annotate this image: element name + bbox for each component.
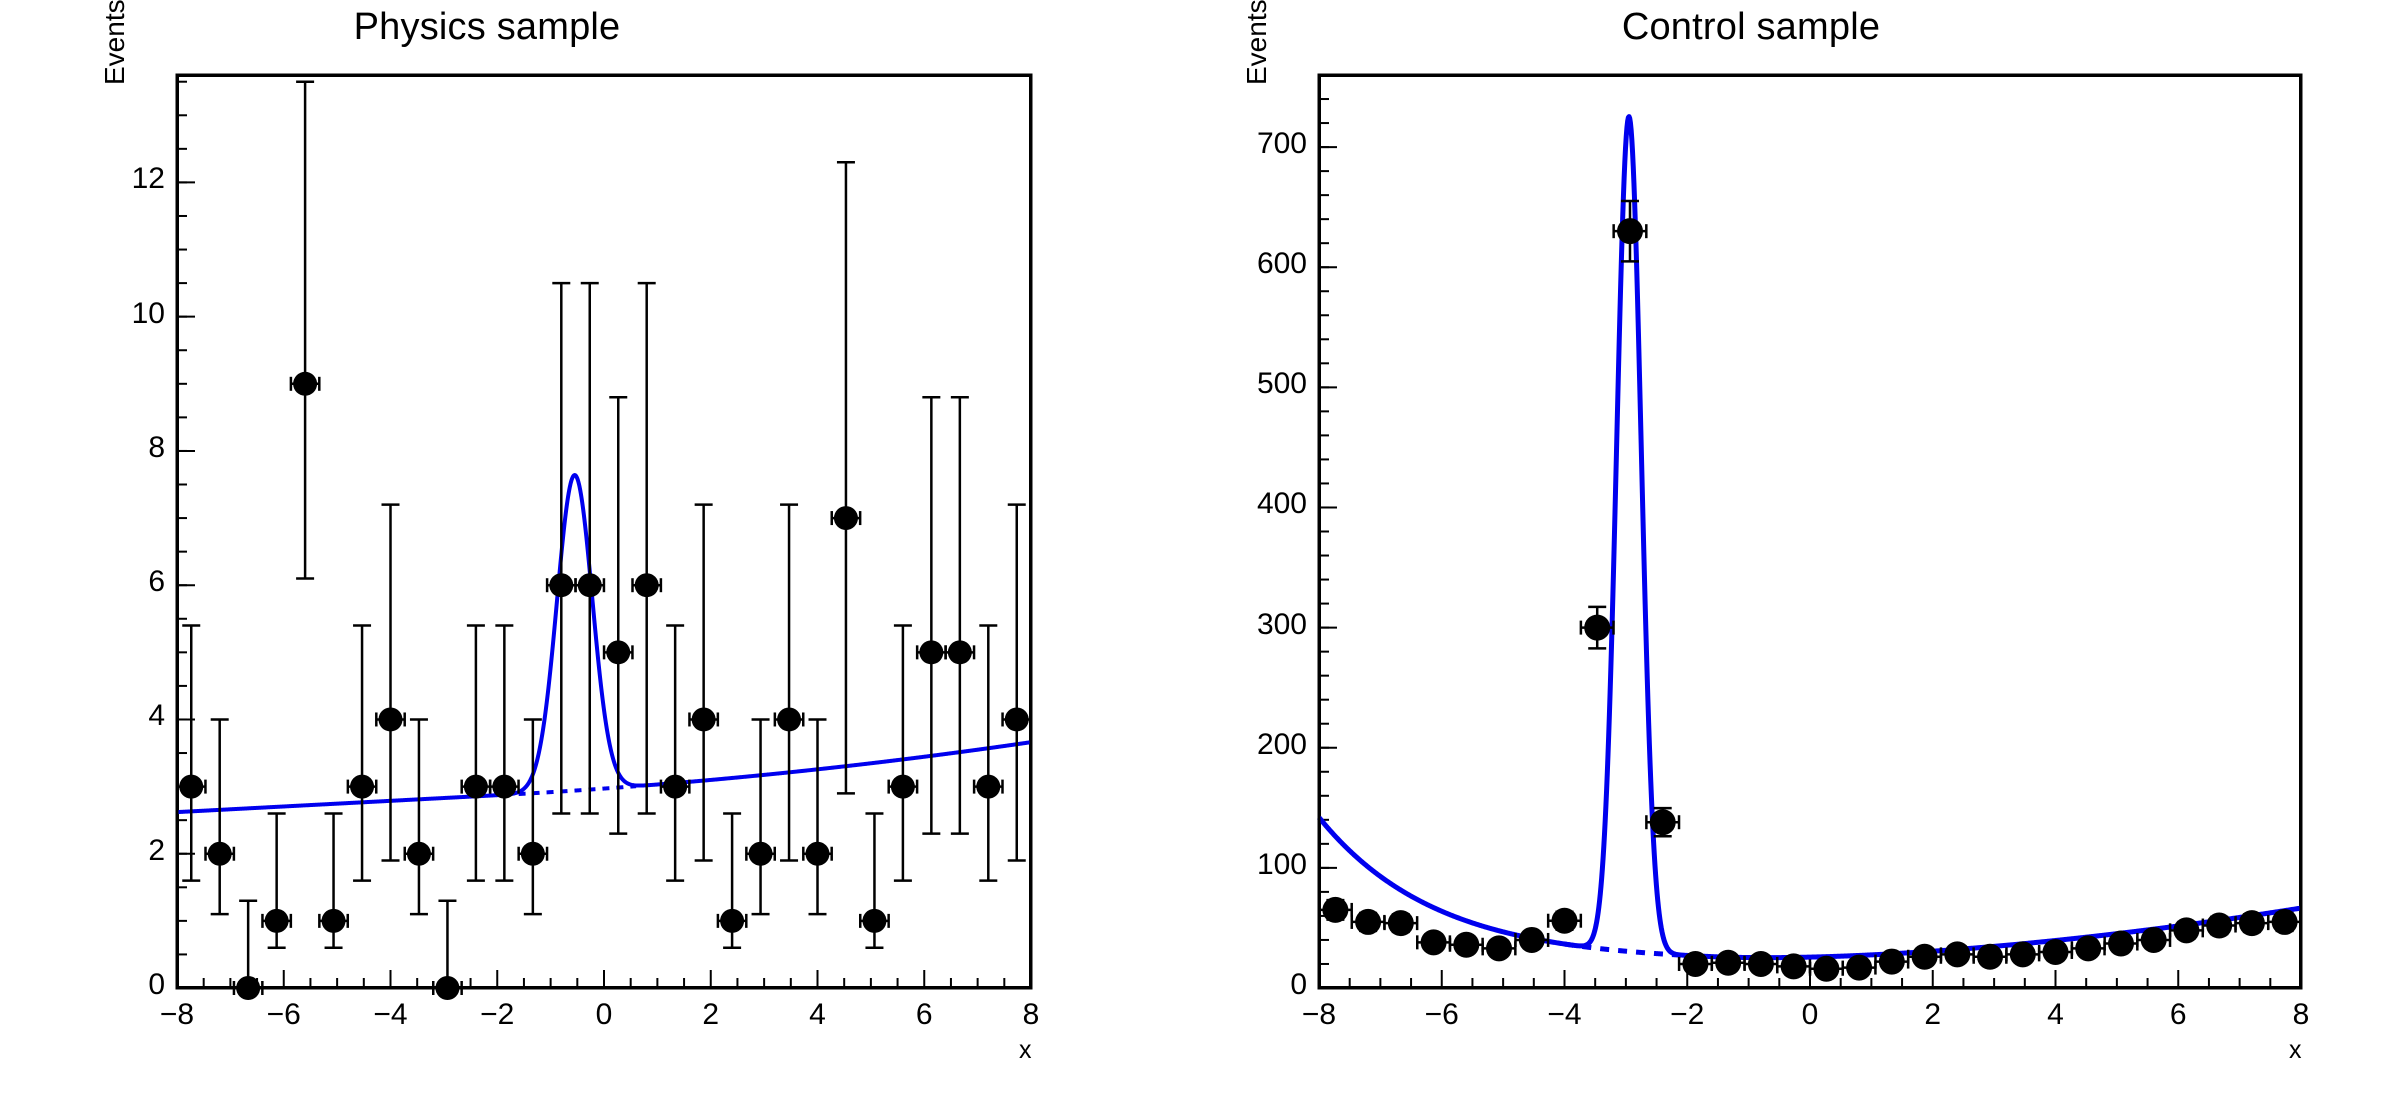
data-point-physics-7: [376, 505, 404, 861]
data-point-control-1: [1352, 909, 1385, 935]
data-point-physics-29: [1003, 505, 1031, 861]
data-point-control-9: [1614, 201, 1647, 261]
x-tick-label-physics-8: 8: [991, 998, 1071, 1032]
data-point-physics-12: [519, 719, 547, 914]
y-tick-label-control-1: 100: [1179, 848, 1307, 882]
data-point-control-18: [1908, 944, 1941, 970]
y-tick-label-control-3: 300: [1179, 608, 1307, 642]
data-point-control-5: [1483, 935, 1516, 961]
x-tick-label-control-2: −4: [1525, 998, 1605, 1032]
y-tick-label-physics-6: 12: [37, 162, 165, 196]
data-point-physics-22: [803, 719, 831, 914]
y-tick-label-control-5: 500: [1179, 367, 1307, 401]
x-tick-label-physics-0: −8: [137, 998, 217, 1032]
data-point-physics-16: [633, 283, 661, 813]
y-tick-label-physics-3: 6: [37, 565, 165, 599]
y-tick-label-physics-1: 2: [37, 834, 165, 868]
x-tick-label-control-7: 6: [2138, 998, 2218, 1032]
figure-canvas: Physics sample Events / ( 0.533333 ) x −…: [0, 0, 2388, 1116]
y-tick-label-physics-5: 10: [37, 297, 165, 331]
data-point-physics-14: [576, 283, 604, 813]
data-point-physics-5: [319, 813, 347, 947]
x-tick-label-control-6: 4: [2016, 998, 2096, 1032]
data-point-physics-4: [291, 82, 319, 579]
panel-control-sample: Control sample Events / ( 0.533333 ) x −…: [1194, 0, 2388, 1116]
data-point-physics-20: [746, 719, 774, 914]
x-tick-label-physics-4: 0: [564, 998, 644, 1032]
x-tick-label-physics-2: −4: [351, 998, 431, 1032]
y-tick-label-physics-4: 8: [37, 431, 165, 465]
data-point-control-2: [1384, 910, 1417, 936]
data-point-physics-9: [433, 901, 461, 1000]
data-point-physics-3: [262, 813, 290, 947]
data-point-control-16: [1843, 955, 1876, 981]
x-tick-label-control-1: −6: [1402, 998, 1482, 1032]
data-point-physics-24: [860, 813, 888, 947]
x-tick-label-physics-5: 2: [671, 998, 751, 1032]
data-point-control-13: [1745, 951, 1778, 977]
panel-physics-sample: Physics sample Events / ( 0.533333 ) x −…: [0, 0, 1194, 1116]
y-tick-label-control-4: 400: [1179, 487, 1307, 521]
plot-area-physics: [0, 0, 1194, 1116]
data-point-control-8: [1581, 607, 1614, 649]
data-point-control-19: [1941, 941, 1974, 967]
y-tick-label-control-6: 600: [1179, 247, 1307, 281]
data-point-physics-2: [234, 901, 262, 1000]
x-tick-label-control-5: 2: [1893, 998, 1973, 1032]
data-point-physics-28: [974, 625, 1002, 880]
data-point-control-12: [1712, 950, 1745, 976]
data-point-control-6: [1515, 927, 1548, 953]
data-point-physics-23: [832, 162, 860, 793]
data-point-physics-15: [604, 397, 632, 833]
data-point-physics-8: [405, 719, 433, 914]
data-point-physics-21: [775, 505, 803, 861]
data-point-physics-17: [661, 625, 689, 880]
data-point-control-15: [1810, 956, 1843, 982]
data-point-physics-25: [889, 625, 917, 880]
y-tick-label-control-7: 700: [1179, 127, 1307, 161]
data-point-physics-27: [946, 397, 974, 833]
x-tick-label-physics-6: 4: [778, 998, 858, 1032]
data-point-physics-11: [490, 625, 518, 880]
data-point-control-7: [1548, 908, 1581, 934]
x-tick-label-control-0: −8: [1279, 998, 1359, 1032]
data-point-physics-26: [917, 397, 945, 833]
data-point-physics-6: [348, 625, 376, 880]
y-tick-label-physics-0: 0: [37, 968, 165, 1002]
data-point-control-0: [1319, 897, 1352, 923]
x-tick-label-physics-3: −2: [457, 998, 537, 1032]
x-tick-label-physics-7: 6: [884, 998, 964, 1032]
data-point-physics-1: [206, 719, 234, 914]
data-point-physics-13: [547, 283, 575, 813]
y-tick-label-physics-2: 4: [37, 699, 165, 733]
data-point-control-3: [1417, 929, 1450, 955]
data-point-physics-10: [462, 625, 490, 880]
y-tick-label-control-2: 200: [1179, 728, 1307, 762]
x-tick-label-control-4: 0: [1770, 998, 1850, 1032]
data-point-control-4: [1450, 932, 1483, 958]
x-tick-label-physics-1: −6: [244, 998, 324, 1032]
x-tick-label-control-3: −2: [1647, 998, 1727, 1032]
data-point-physics-18: [689, 505, 717, 861]
plot-area-control: [1194, 0, 2388, 1116]
x-tick-label-control-8: 8: [2261, 998, 2341, 1032]
y-tick-label-control-0: 0: [1179, 968, 1307, 1002]
data-point-physics-19: [718, 813, 746, 947]
